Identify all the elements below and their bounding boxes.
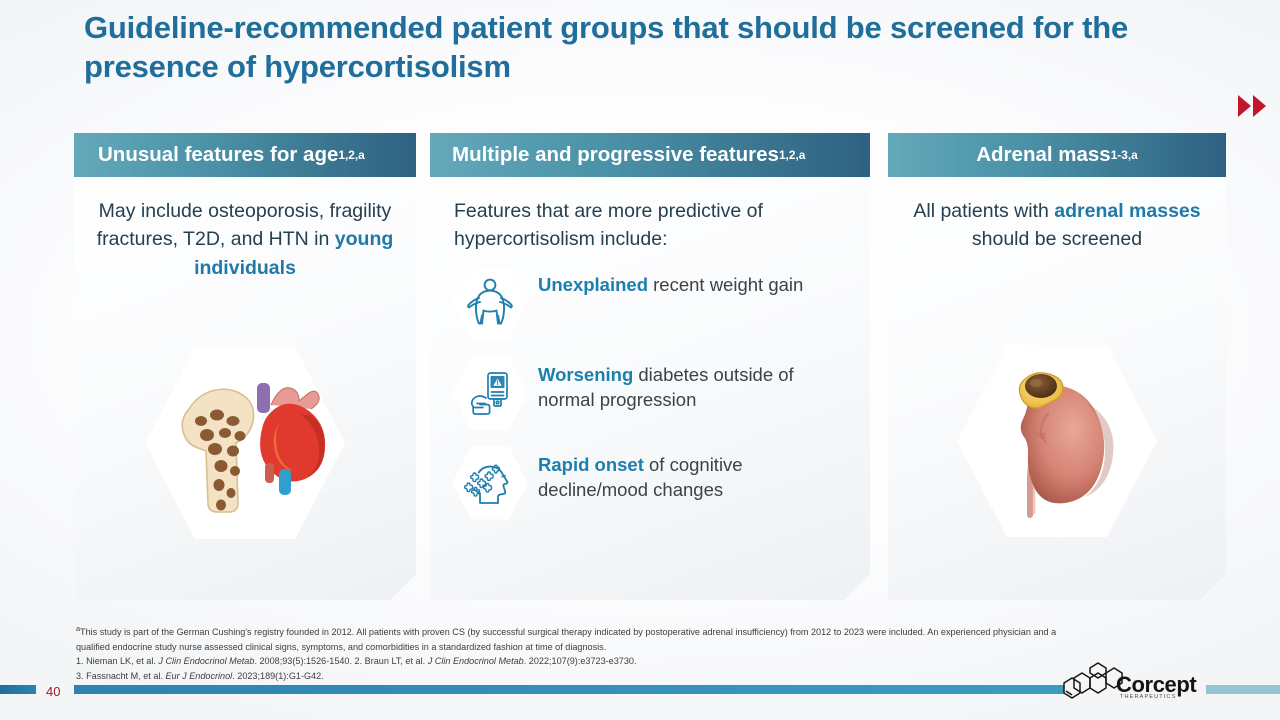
reference-line-1: 1. Nieman LK, et al. J Clin Endocrinol M… — [76, 654, 1086, 669]
footnote-study-note: aThis study is part of the German Cushin… — [76, 623, 1086, 654]
footer-bar-accent — [1206, 685, 1280, 694]
hexagon-molecule-logo-icon — [1062, 662, 1124, 706]
card-3-header: Adrenal mass1-3,a — [888, 133, 1226, 177]
arrow-triangle-2 — [1253, 95, 1266, 117]
glucose-meter-svg — [466, 369, 514, 417]
head-puzzle-cognition-icon — [452, 445, 528, 521]
feature-label: Rapid onset of cognitive decline/mood ch… — [538, 445, 852, 502]
card-multiple-progressive-features: Multiple and progressive features1,2,a F… — [430, 133, 870, 600]
card-3-header-superscript: 1-3,a — [1111, 148, 1138, 162]
ref1-cite: . 2008;93(5):1526-1540. — [254, 656, 354, 666]
feature-rest: recent weight gain — [648, 274, 803, 295]
card-3-body-highlight: adrenal masses — [1054, 200, 1200, 222]
arrow-triangle-1 — [1238, 95, 1251, 117]
feature-lead: Rapid onset — [538, 454, 644, 475]
ref2-author: 2. Braun LT, et al. — [355, 656, 428, 666]
card-3-body: All patients with adrenal masses should … — [902, 197, 1212, 254]
corcept-logo: Corcept THERAPEUTICS — [1062, 662, 1192, 710]
kidney-with-adrenal-mass-illustration — [957, 343, 1157, 539]
osteoporotic-femur-icon — [182, 389, 253, 512]
obese-body-figure-icon — [452, 265, 528, 341]
osteoporotic-bone-and-heart-illustration — [145, 345, 345, 541]
body-figure-svg — [466, 278, 514, 328]
reference-line-2: 3. Fassnacht M, et al. Eur J Endocrinol.… — [76, 669, 1086, 684]
ref1-author: 1. Nieman LK, et al. — [76, 656, 158, 666]
card-1-body: May include osteoporosis, fragility frac… — [90, 197, 400, 282]
anatomical-heart-icon — [257, 383, 325, 495]
footnote-study-text: This study is part of the German Cushing… — [76, 627, 1056, 652]
feature-item: Worsening diabetes outside of normal pro… — [452, 355, 852, 431]
ref3-author: 3. Fassnacht M, et al. — [76, 671, 165, 681]
page-title: Guideline-recommended patient groups tha… — [84, 8, 1174, 87]
footnotes-block: aThis study is part of the German Cushin… — [76, 623, 1086, 684]
feature-item: Unexplained recent weight gain — [452, 265, 852, 341]
feature-label: Unexplained recent weight gain — [538, 265, 803, 298]
feature-list: Unexplained recent weight gain — [452, 265, 852, 535]
page-number: 40 — [46, 684, 60, 699]
ref1-journal: J Clin Endocrinol Metab — [158, 656, 254, 666]
card-2-body: Features that are more predictive of hyp… — [454, 197, 850, 254]
card-1-header-label: Unusual features for age — [98, 143, 338, 167]
bone-heart-svg — [145, 345, 345, 541]
card-adrenal-mass: Adrenal mass1-3,a All patients with adre… — [888, 133, 1226, 600]
card-unusual-features: Unusual features for age1,2,a May includ… — [74, 133, 416, 600]
glucose-meter-warning-icon — [452, 355, 528, 431]
ref3-cite: . 2023;189(1):G1-G42. — [232, 671, 324, 681]
ref3-journal: Eur J Endocrinol — [165, 671, 232, 681]
footer-bar-left — [0, 685, 36, 694]
footer-bar-main — [74, 685, 1064, 694]
slide-canvas: Guideline-recommended patient groups tha… — [0, 0, 1280, 720]
card-3-body-suffix: should be screened — [972, 228, 1142, 250]
double-right-arrow-icon[interactable] — [1238, 95, 1266, 117]
feature-lead: Unexplained — [538, 274, 648, 295]
logo-tagline: THERAPEUTICS — [1120, 694, 1176, 700]
card-2-header: Multiple and progressive features1,2,a — [430, 133, 870, 177]
kidney-svg — [957, 343, 1157, 539]
card-1-header: Unusual features for age1,2,a — [74, 133, 416, 177]
ref2-cite: . 2022;107(9):e3723-e3730. — [524, 656, 637, 666]
card-2-header-label: Multiple and progressive features — [452, 143, 779, 167]
card-1-header-superscript: 1,2,a — [338, 148, 364, 162]
card-2-header-superscript: 1,2,a — [779, 148, 805, 162]
head-puzzle-svg — [464, 459, 516, 507]
feature-item: Rapid onset of cognitive decline/mood ch… — [452, 445, 852, 521]
feature-lead: Worsening — [538, 364, 633, 385]
card-3-body-prefix: All patients with — [913, 200, 1054, 222]
feature-label: Worsening diabetes outside of normal pro… — [538, 355, 852, 412]
ref2-journal: J Clin Endocrinol Metab — [428, 656, 524, 666]
card-3-header-label: Adrenal mass — [976, 143, 1110, 167]
